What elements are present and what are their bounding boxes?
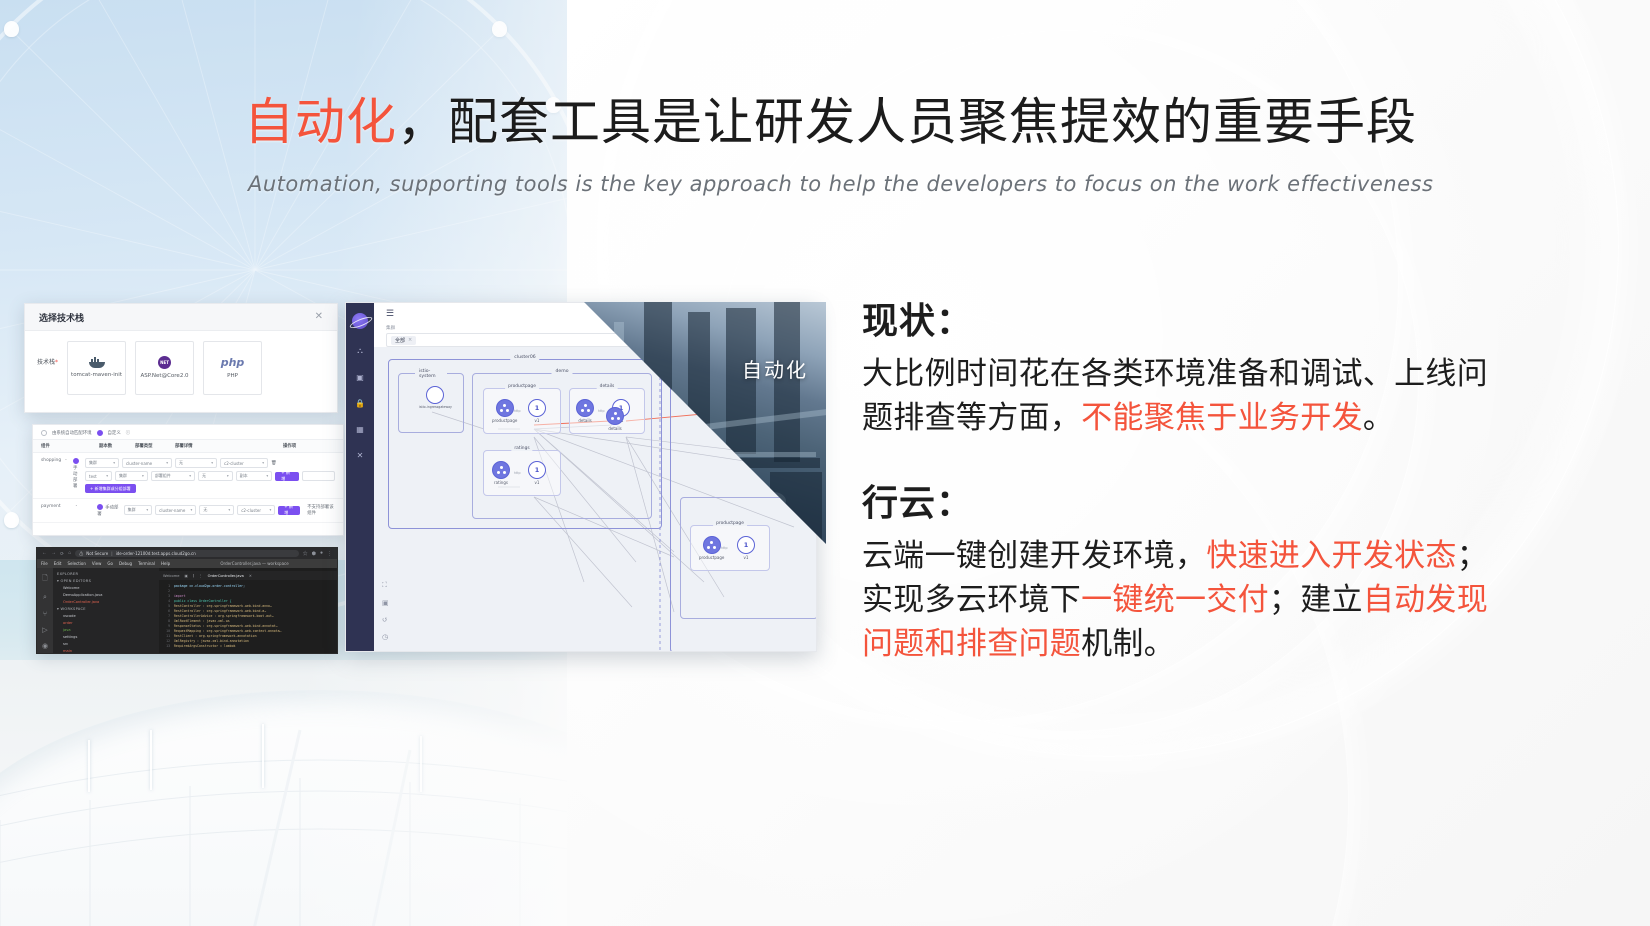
menu-help[interactable]: Help [161,561,170,566]
center-icon[interactable]: ▣ [382,599,389,607]
node-productpage2-v1[interactable]: 1 v1 [737,536,755,560]
service-label: ratings [511,446,532,451]
delete-icon[interactable]: 🗑 [271,461,277,466]
tree-vscode[interactable]: vscode [63,614,155,618]
col-deploytype: 部署类型 [135,443,175,449]
files-icon[interactable]: 🗋 [42,574,48,585]
title-rest: ，配套工具是让研发人员聚焦提效的重要手段 [397,94,1417,150]
col-actions: 操作项 [283,443,296,449]
add-cluster-group-button[interactable]: + 新增集群或分组部署 [85,484,136,493]
version-node-icon: 1 [528,399,546,417]
row-name: payment [41,504,72,509]
lock-icon[interactable]: 🔒 [355,399,365,408]
table-header-row: 组件 副本数 部署类型 部署详情 操作项 [33,439,343,453]
activity-bar: 🗋 ⌕ ⑂ ▷ ◉ [37,568,53,653]
tree-order[interactable]: order [63,621,155,625]
chevron-down-icon: ▾ [191,508,193,512]
menu-go[interactable]: Go [107,561,113,566]
status-line1: 大比例时间花在各类环境准备和调试、上线 [862,356,1457,391]
slide-root: 自动化，配套工具是让研发人员聚焦提效的重要手段 Automation, supp… [0,0,1650,926]
ide-menubar: File Edit Selection View Go Debug Termin… [37,559,337,568]
chevron-down-icon: ▾ [166,461,168,465]
row-note: 不支持部署该组件 [307,504,335,516]
node-label: v1 [535,480,540,485]
cluster-label: cluster06 [510,355,539,360]
service-node-icon [496,399,514,417]
select-group[interactable]: 部署组件▾ [151,471,195,481]
filter-tag: 全部× [391,336,416,345]
remove-tag-icon[interactable]: × [408,337,412,343]
run-icon[interactable]: ▣ [184,574,187,578]
menu-debug[interactable]: Debug [119,561,132,566]
code-line: 13RequiredArgsConstructor = lombok [163,643,333,648]
namespace-label: istio-system [415,369,447,379]
node-details-remote[interactable]: details [606,407,624,431]
topology-icon[interactable]: ⛬ [357,346,363,356]
browser-toolbar: ← → ⟳ ⌂ ⚠ Not Secure | ide-order-12100d.… [37,548,337,559]
edge-label: http [514,471,521,475]
tile-php[interactable]: php PHP [203,341,262,395]
chevron-down-icon: ▾ [262,461,264,465]
profile-icon[interactable]: ● [320,551,323,556]
radio-custom[interactable] [97,430,103,436]
select-c2cluster[interactable]: c2-cluster▾ [237,505,275,515]
ide-body: 🗋 ⌕ ⑂ ▷ ◉ EXPLORER ▾ OPEN EDITORS Welcom… [37,568,337,653]
service-node-icon [606,407,624,425]
table-row: shopping - 手动部署 集群▾ cluster-name▾ 无▾ c2-… [33,453,343,499]
xy-tail: 机制。 [1081,626,1175,661]
reset-icon[interactable]: ↺ [382,616,389,624]
chevron-down-icon: ▾ [146,508,148,512]
dotnet-icon: NET [158,356,171,369]
home-icon[interactable]: ⌂ [68,551,71,556]
dialog-body: 技术栈* tomcat-maven-init NET ASP.Net@Core2… [25,331,337,405]
service-node-icon [703,536,721,554]
slide-subtitle: Automation, supporting tools is the key … [248,172,1433,196]
chevron-down-icon: ▾ [211,461,213,465]
title-highlight: 自动化 [244,94,397,150]
menu-selection[interactable]: Selection [67,561,85,566]
open-editors-label[interactable]: ▾ OPEN EDITORS [57,579,155,583]
explorer-panel: EXPLORER ▾ OPEN EDITORS Welcome DemoAppl… [53,568,159,653]
body-text-column: 现状： 大比例时间花在各类环境准备和调试、上线问题排查等方面，不能聚焦于业务开发… [862,292,1502,700]
version-node-icon: 1 [528,461,546,479]
split-icon[interactable]: ⫿ [193,574,194,578]
status-highlight: 不能聚焦于业务开发 [1081,400,1363,435]
tree-main[interactable]: main [63,649,155,653]
node-label: istio-ingressgateway [419,405,452,409]
node-details-service[interactable]: details [576,399,594,423]
node-productpage-v1[interactable]: 1 v1 [528,399,546,423]
xy-highlight2: 一键统一交付 [1081,582,1269,617]
warning-icon: ⚠ [79,551,83,557]
node-ratings-service[interactable]: ratings [492,461,510,485]
forward-icon[interactable]: → [51,551,56,556]
select-clustername[interactable]: cluster-name▾ [122,458,172,468]
row-deploytype: 手动部署 [97,504,119,517]
form-radio-row: 由系统自动匹配环境 自定义 ⓘ [33,425,343,439]
service-productpage-2: productpage productpage 1 v1 http [690,525,770,571]
block-paragraph: 云端一键创建开发环境，快速进入开发状态；实现多云环境下一键统一交付；建立自动发现… [862,534,1502,666]
block-heading: 行云： [862,474,1502,526]
dialog-title: 选择技术栈 [39,311,84,324]
help-icon[interactable]: ◷ [382,633,389,641]
row-replicas: - [76,504,94,509]
node-label: details [578,418,591,423]
node-label: productpage [492,418,517,423]
edge-label: http [598,409,605,413]
table-row: payment - 手动部署 集群▾ cluster-name▾ 无▾ c2-c… [33,499,343,523]
col-replicas: 副本数 [99,443,135,449]
xy-highlight1: 快速进入开发状态 [1206,538,1456,573]
docker-icon [89,357,105,368]
php-icon: php [221,356,245,369]
app-logo-icon [352,313,368,329]
version-node-icon: 1 [737,536,755,554]
block-xingyun: 行云： 云端一键创建开发环境，快速进入开发状态；实现多云环境下一键统一交付；建立… [862,474,1502,666]
chevron-down-icon: ▾ [142,474,144,478]
service-ratings: ratings ratings 1 v1 http [483,450,561,496]
tree-src[interactable]: src [63,642,155,646]
overlay-label: 自动化 [742,354,808,383]
menu-terminal[interactable]: Terminal [138,561,155,566]
col-deploydetail: 部署详情 [175,443,283,449]
chevron-down-icon: ▾ [228,508,230,512]
block-heading: 现状： [862,292,1502,344]
node-label: productpage [699,555,724,560]
service-node-icon [492,461,510,479]
tile-label: PHP [207,373,259,380]
chevron-down-icon: ▾ [113,461,115,465]
slide-title: 自动化，配套工具是让研发人员聚焦提效的重要手段 [244,95,1417,150]
tab-ordercontroller[interactable]: OrderController.java [208,574,244,578]
explorer-title: EXPLORER [57,572,155,576]
close-icon[interactable]: ✕ [357,451,364,460]
node-istio-ingressgateway[interactable]: istio-ingressgateway [419,386,452,409]
reload-icon[interactable]: ⟳ [60,551,64,557]
address-bar[interactable]: ⚠ Not Secure | ide-order-12100d.test.app… [75,550,298,557]
add-button[interactable]: + 新增 [278,506,300,515]
workspace-label[interactable]: ▾ WORKSPACE [57,607,155,611]
dialog-header: 选择技术栈 ✕ [25,304,337,331]
status-tail: 。 [1363,400,1394,435]
editor-panel: Welcome ▣ ⫿ ⋮ OrderController.java ✕ 1pa… [159,568,337,653]
filter-box[interactable]: 全部× ⌄ [386,333,636,347]
service-label: productpage [713,521,747,526]
close-icon[interactable]: ✕ [315,312,323,322]
select-replica[interactable]: 副本▾ [236,471,273,481]
menu-view[interactable]: View [92,561,102,566]
open-editor-welcome[interactable]: Welcome [63,586,155,590]
tree-java[interactable]: java [63,628,155,632]
edge-label: http [514,409,521,413]
namespace-demo: demo productpage productpage 1 v1 http [472,373,652,519]
node-label: details [608,426,621,431]
select-none2[interactable]: 无▾ [198,471,233,481]
node-ratings-v1[interactable]: 1 v1 [528,461,546,485]
mesh-sidebar: ⛬ ▣ 🔒 ▦ ✕ [346,303,374,652]
tab-welcome[interactable]: Welcome [163,574,179,578]
select-c2cluster[interactable]: c2-cluster▾ [220,458,268,468]
service-label: details [597,384,618,389]
more-icon[interactable]: ⋮ [199,574,203,578]
radio-auto-label: 由系统自动匹配环境 [52,430,92,436]
card-deploy-form[interactable]: 由系统自动匹配环境 自定义 ⓘ 组件 副本数 部署类型 部署详情 操作项 sho… [32,424,344,536]
open-editor-demoapp[interactable]: DemoApplication.java [63,593,155,597]
tile-aspnet[interactable]: NET ASP.Net@Core2.0 [135,341,194,395]
edge-label: http [721,546,728,550]
block-paragraph: 大比例时间花在各类环境准备和调试、上线问题排查等方面，不能聚焦于业务开发。 [862,352,1502,440]
source-control-icon[interactable]: ⑂ [43,610,47,618]
fit-icon[interactable]: ⛶ [382,581,389,590]
editor-tabs: Welcome ▣ ⫿ ⋮ OrderController.java ✕ [159,571,337,580]
bookmark-icon[interactable]: ☆ [303,550,308,557]
tile-label: ASP.Net@Core2.0 [139,373,191,380]
service-productpage: productpage productpage 1 v1 http [483,388,561,434]
select-cluster[interactable]: 集群▾ [124,505,153,515]
security-label: Not Secure [86,551,108,556]
debug-icon[interactable]: ▷ [42,626,47,634]
select-cluster[interactable]: 集群▾ [85,458,119,468]
extensions-icon[interactable]: ⬢ [312,551,316,557]
chevron-down-icon: ▾ [269,508,271,512]
back-icon[interactable]: ← [42,551,47,556]
tile-label: tomcat-maven-init [71,372,123,379]
radio-auto[interactable] [41,430,47,436]
namespace-label: demo [551,369,572,374]
chevron-down-icon: ▾ [189,474,191,478]
chevron-down-icon: ▾ [266,474,268,478]
namespace-istio-system: istio-system istio-ingressgateway [398,373,464,433]
tile-tomcat[interactable]: tomcat-maven-init [67,341,126,395]
tree-settings[interactable]: settings [63,635,155,639]
service-label: productpage [505,384,539,389]
select-env[interactable]: test▾ [85,471,112,481]
code-area[interactable]: 1package cn.cloud2go.order.controller; 2… [159,580,337,651]
row-replicas: - [65,458,69,463]
chevron-down-icon: ▾ [227,474,229,478]
extensions-icon[interactable]: ◉ [42,642,48,650]
row-name: shopping [41,458,61,463]
open-editor-ordercontroller[interactable]: OrderController.java [63,600,155,604]
required-mark: * [55,359,58,366]
ide-window-title: OrderController.java — workspace [220,561,288,566]
xy-mid2: ；建立 [1269,582,1363,617]
apps-icon[interactable]: ▣ [356,373,364,382]
radio-custom-label: 自定义 [108,430,121,436]
col-component: 组件 [41,443,99,449]
card-cloud-ide[interactable]: ← → ⟳ ⌂ ⚠ Not Secure | ide-order-12100d.… [36,547,338,654]
select-none[interactable]: 无▾ [175,458,217,468]
grid-icon[interactable]: ▦ [356,425,364,434]
chevron-down-icon: ▾ [106,474,108,478]
tab-close-icon[interactable]: ✕ [249,574,252,578]
filter-label: 集群 [386,325,636,331]
service-node-icon [426,386,444,404]
graph-tools: ⛶ ▣ ↺ ◷ [382,581,389,641]
select-cluster2[interactable]: 集群▾ [115,471,148,481]
menu-icon[interactable]: ⋮ [327,551,332,557]
search-icon[interactable]: ⌕ [43,593,47,602]
info-icon[interactable]: ⓘ [126,430,130,436]
select-none[interactable]: 无▾ [199,505,234,515]
node-label: v1 [744,555,749,560]
hamburger-icon[interactable]: ☰ [386,308,393,319]
add-button[interactable]: + 新增 [275,472,299,481]
filter-cluster: 集群 全部× ⌄ [386,325,636,347]
url-text: ide-order-12100d.test.apps.cloud2go.cn [116,551,196,556]
select-clustername[interactable]: cluster-name▾ [155,505,196,515]
xy-plain1: 云端一键创建开发环境， [862,538,1206,573]
menu-edit[interactable]: Edit [54,561,62,566]
service-node-icon [576,399,594,417]
node-label: v1 [535,418,540,423]
extra-input[interactable] [302,471,335,481]
field-label: 技术栈* [37,357,58,366]
card-tech-stack-dialog[interactable]: 选择技术栈 ✕ 技术栈* tomcat-maven-init NET ASP.N… [24,303,338,413]
node-label: ratings [494,480,508,485]
row-deploytype: 手动部署 [73,458,81,489]
block-current-status: 现状： 大比例时间花在各类环境准备和调试、上线问题排查等方面，不能聚焦于业务开发… [862,292,1502,440]
menu-file[interactable]: File [41,561,48,566]
